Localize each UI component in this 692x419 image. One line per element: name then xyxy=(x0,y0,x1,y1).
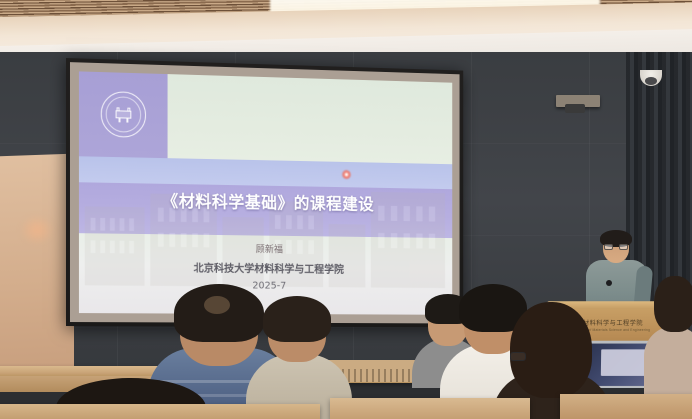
presentation-slide: 《材料科学基础》的课程建设 顾新福 北京科技大学材料科学与工程学院 2025-7 xyxy=(79,71,452,314)
audience-hair xyxy=(263,296,331,342)
audience-hair-long xyxy=(510,302,592,398)
desk-row-front-right xyxy=(330,398,530,419)
audience-head xyxy=(654,276,692,332)
wall-light-reflection xyxy=(20,215,54,245)
screen-frame: 《材料科学基础》的课程建设 顾新福 北京科技大学材料科学与工程学院 2025-7 xyxy=(66,58,463,327)
projection-screen: 《材料科学基础》的课程建设 顾新福 北京科技大学材料科学与工程学院 2025-7 xyxy=(66,58,463,327)
desk-row-front xyxy=(0,404,320,419)
tan-wall-panel xyxy=(0,154,74,377)
glasses-icon xyxy=(604,244,628,250)
lecture-hall-scene: 《材料科学基础》的课程建设 顾新福 北京科技大学材料科学与工程学院 2025-7… xyxy=(0,0,692,419)
glasses-icon xyxy=(510,352,526,361)
screen-mat: 《材料科学基础》的课程建设 顾新福 北京科技大学材料科学与工程学院 2025-7 xyxy=(70,62,460,323)
wall-speaker-box xyxy=(556,95,600,107)
ding-vessel-icon xyxy=(115,108,133,122)
lapel-microphone-icon xyxy=(606,280,612,286)
desk-row-front-far-right xyxy=(560,394,692,419)
ustb-seal-icon xyxy=(101,91,146,138)
hair-thinning-spot xyxy=(204,296,230,314)
